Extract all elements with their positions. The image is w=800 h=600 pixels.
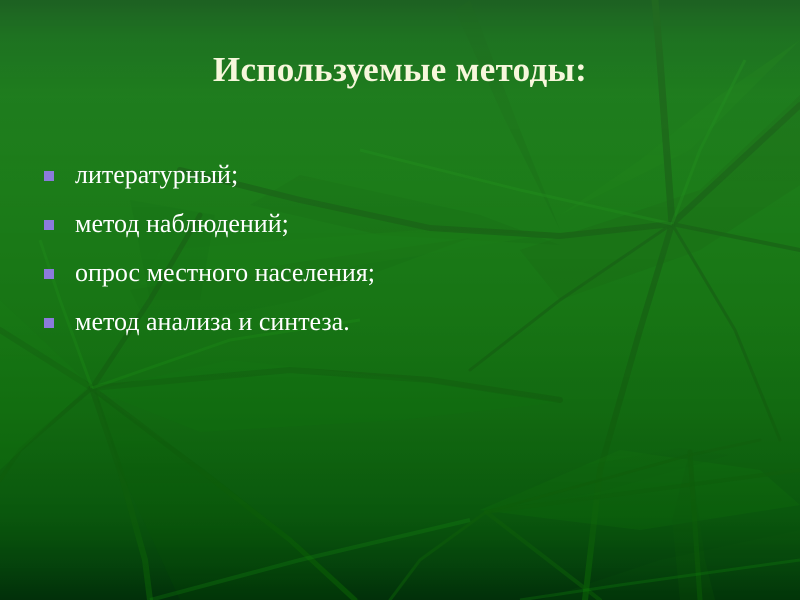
methods-bullet-list: литературный; метод наблюдений; опрос ме… [44, 150, 744, 346]
presentation-slide: Используемые методы: литературный; метод… [0, 0, 800, 600]
square-bullet-icon [44, 171, 54, 181]
square-bullet-icon [44, 269, 54, 279]
list-item: литературный; [44, 150, 744, 199]
list-item-label: метод наблюдений; [75, 211, 289, 237]
list-item: опрос местного населения; [44, 248, 744, 297]
list-item-label: метод анализа и синтеза. [75, 309, 350, 335]
square-bullet-icon [44, 318, 54, 328]
page-title: Используемые методы: [0, 50, 800, 90]
list-item: метод наблюдений; [44, 199, 744, 248]
list-item-label: опрос местного населения; [75, 260, 375, 286]
list-item-label: литературный; [75, 162, 238, 188]
square-bullet-icon [44, 220, 54, 230]
list-item: метод анализа и синтеза. [44, 297, 744, 346]
